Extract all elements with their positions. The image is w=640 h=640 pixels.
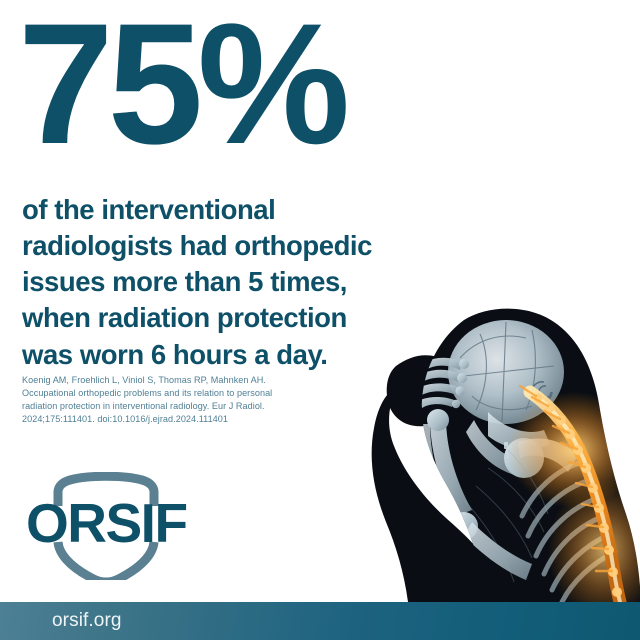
footer-bar: orsif.org	[0, 602, 640, 640]
infographic-poster: 75% of the interventional radiologists h…	[0, 0, 640, 640]
citation-line: Occupational orthopedic problems and its…	[22, 387, 352, 400]
stat-headline: 75%	[18, 0, 344, 170]
citation-line: radiation protection in interventional r…	[22, 400, 352, 413]
soft-tissue-lines	[464, 450, 548, 582]
statement-line: of the interventional	[22, 192, 442, 228]
arm-bones-xray	[416, 409, 532, 580]
skull-xray	[448, 320, 564, 476]
citation-line: 2024;175:111401. doi:10.1016/j.ejrad.202…	[22, 413, 352, 426]
glowing-spine	[508, 386, 640, 602]
shoulder-bones-xray	[504, 438, 578, 478]
statement-line: was worn 6 hours a day.	[22, 337, 442, 373]
orsif-wordmark: ORSIF	[26, 492, 187, 554]
statement-paragraph: of the interventional radiologists had o…	[22, 192, 442, 373]
statement-line: radiologists had orthopedic	[22, 228, 442, 264]
ribcage-xray	[522, 462, 615, 602]
footer-website-url[interactable]: orsif.org	[52, 610, 122, 632]
statement-line: issues more than 5 times,	[22, 264, 442, 300]
statement-line: when radiation protection	[22, 300, 442, 336]
citation-block: Koenig AM, Froehlich L, Viniol S, Thomas…	[22, 374, 352, 426]
orsif-logo: ORSIF	[26, 472, 206, 580]
citation-line: Koenig AM, Froehlich L, Viniol S, Thomas…	[22, 374, 352, 387]
